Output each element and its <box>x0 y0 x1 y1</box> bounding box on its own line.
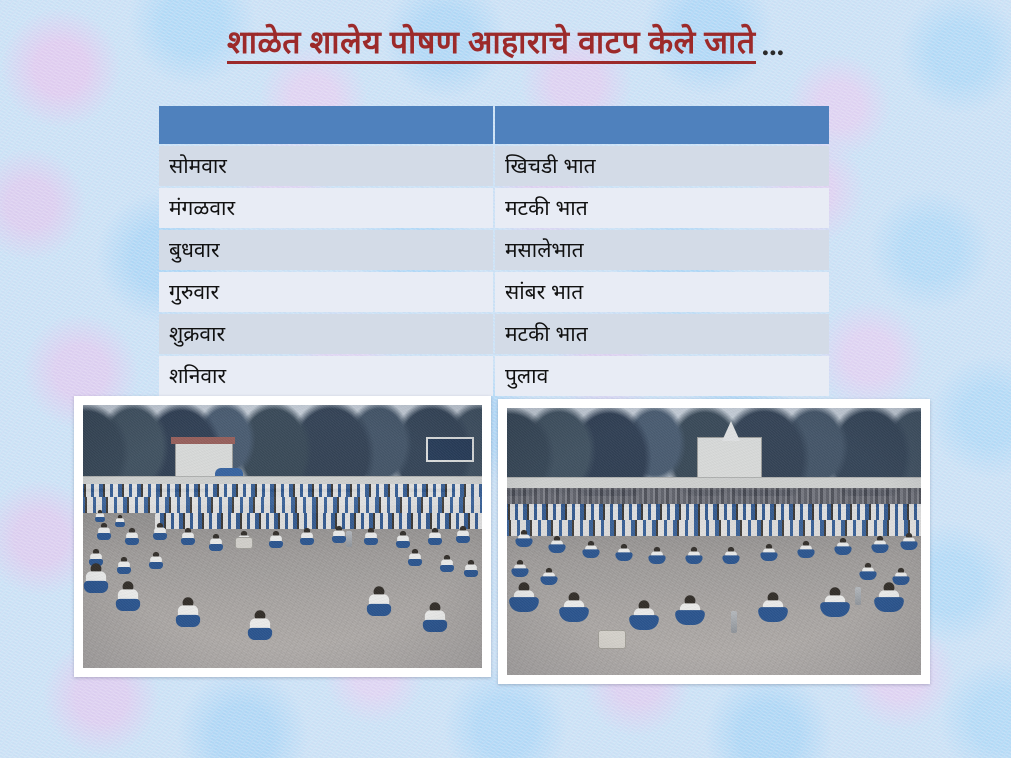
seated-pupil <box>300 528 314 545</box>
photo-right <box>507 408 921 675</box>
slide-canvas: शाळेत शालेय पोषण आहाराचे वाटप केले जाते.… <box>0 0 1011 758</box>
seated-pupil <box>902 533 916 550</box>
photo-left-frame <box>74 396 491 677</box>
table-row: मंगळवार मटकी भात <box>159 188 829 228</box>
cell-dish: पुलाव <box>495 356 829 396</box>
seated-pupil <box>836 538 850 555</box>
seated-pupil <box>247 610 271 640</box>
photo-signboard <box>426 437 474 462</box>
seated-pupil <box>95 510 105 522</box>
seated-pupil <box>396 531 410 548</box>
seated-pupil <box>408 549 422 566</box>
weekly-menu-table-container: सोमवार खिचडी भात मंगळवार मटकी भात बुधवार… <box>157 104 831 398</box>
table-header-row <box>159 106 829 144</box>
photo-crowd-far-row <box>83 497 482 513</box>
seated-pupil <box>364 528 378 545</box>
photo-right-frame <box>498 399 930 684</box>
page-title-text: शाळेत शालेय पोषण आहाराचे वाटप केले जाते <box>227 26 756 64</box>
seated-pupil <box>149 552 163 569</box>
photo-crowd-far-row <box>83 484 482 497</box>
weekly-menu-table: सोमवार खिचडी भात मंगळवार मटकी भात बुधवार… <box>157 104 831 398</box>
seated-pupil <box>562 593 586 623</box>
cell-day: सोमवार <box>159 146 493 186</box>
photo-crowd-far-row <box>155 513 482 529</box>
seated-pupil <box>153 523 167 540</box>
cell-day: शुक्रवार <box>159 314 493 354</box>
page-title: शाळेत शालेय पोषण आहाराचे वाटप केले जाते.… <box>0 26 1011 64</box>
seated-pupil <box>423 602 447 632</box>
seated-pupil <box>861 562 875 579</box>
seated-pupil <box>97 523 111 540</box>
seated-pupil <box>269 531 283 548</box>
seated-pupil <box>650 546 664 563</box>
seated-pupil <box>440 554 454 571</box>
page-title-ellipsis: ... <box>756 31 785 64</box>
cell-day: गुरुवार <box>159 272 493 312</box>
water-bottle <box>731 611 737 633</box>
seated-pupil <box>117 557 131 574</box>
water-bottle <box>855 587 861 605</box>
table-body: सोमवार खिचडी भात मंगळवार मटकी भात बुधवार… <box>159 146 829 396</box>
table-row: गुरुवार सांबर भात <box>159 272 829 312</box>
seated-pupil <box>823 587 847 617</box>
cell-day: मंगळवार <box>159 188 493 228</box>
table-row: शुक्रवार मटकी भात <box>159 314 829 354</box>
table-row: सोमवार खिचडी भात <box>159 146 829 186</box>
seated-pupil <box>724 546 738 563</box>
seated-pupil <box>678 595 702 625</box>
seated-pupil <box>428 528 442 545</box>
photo-ground <box>83 505 482 668</box>
cell-dish: मटकी भात <box>495 188 829 228</box>
photo-crowd-far-row <box>507 504 921 520</box>
table-header <box>159 106 829 144</box>
seated-pupil <box>799 541 813 558</box>
water-bottle <box>346 531 352 547</box>
cell-dish: सांबर भात <box>495 272 829 312</box>
seated-pupil <box>513 560 527 577</box>
seated-pupil <box>617 544 631 561</box>
seated-pupil <box>176 597 200 627</box>
school-bag <box>235 537 253 549</box>
photo-temple-spire <box>722 421 740 441</box>
seated-pupil <box>687 546 701 563</box>
cell-dish: मटकी भात <box>495 314 829 354</box>
seated-pupil <box>583 541 597 558</box>
seated-pupil <box>876 582 900 612</box>
seated-pupil <box>115 515 125 527</box>
seated-pupil <box>517 530 531 547</box>
seated-pupil <box>512 582 536 612</box>
table-row: शनिवार पुलाव <box>159 356 829 396</box>
photo-left <box>83 405 482 668</box>
photo-building-roof <box>171 437 235 445</box>
photo-crowd-far-row <box>507 520 921 536</box>
seated-pupil <box>762 544 776 561</box>
seated-pupil <box>550 536 564 553</box>
seated-pupil <box>456 526 470 543</box>
seated-pupil <box>181 528 195 545</box>
school-bag <box>598 630 626 649</box>
seated-pupil <box>84 563 108 593</box>
seated-pupil <box>761 593 785 623</box>
seated-pupil <box>332 526 346 543</box>
cell-dish: खिचडी भात <box>495 146 829 186</box>
cell-day: शनिवार <box>159 356 493 396</box>
seated-pupil <box>542 568 556 585</box>
cell-day: बुधवार <box>159 230 493 270</box>
table-row: बुधवार मसालेभात <box>159 230 829 270</box>
seated-pupil <box>632 601 656 631</box>
seated-pupil <box>125 528 139 545</box>
seated-pupil <box>367 587 391 617</box>
column-header-dish <box>495 106 829 144</box>
column-header-day <box>159 106 493 144</box>
cell-dish: मसालेभात <box>495 230 829 270</box>
seated-pupil <box>116 581 140 611</box>
seated-pupil <box>209 533 223 550</box>
seated-pupil <box>873 536 887 553</box>
seated-pupil <box>464 560 478 577</box>
